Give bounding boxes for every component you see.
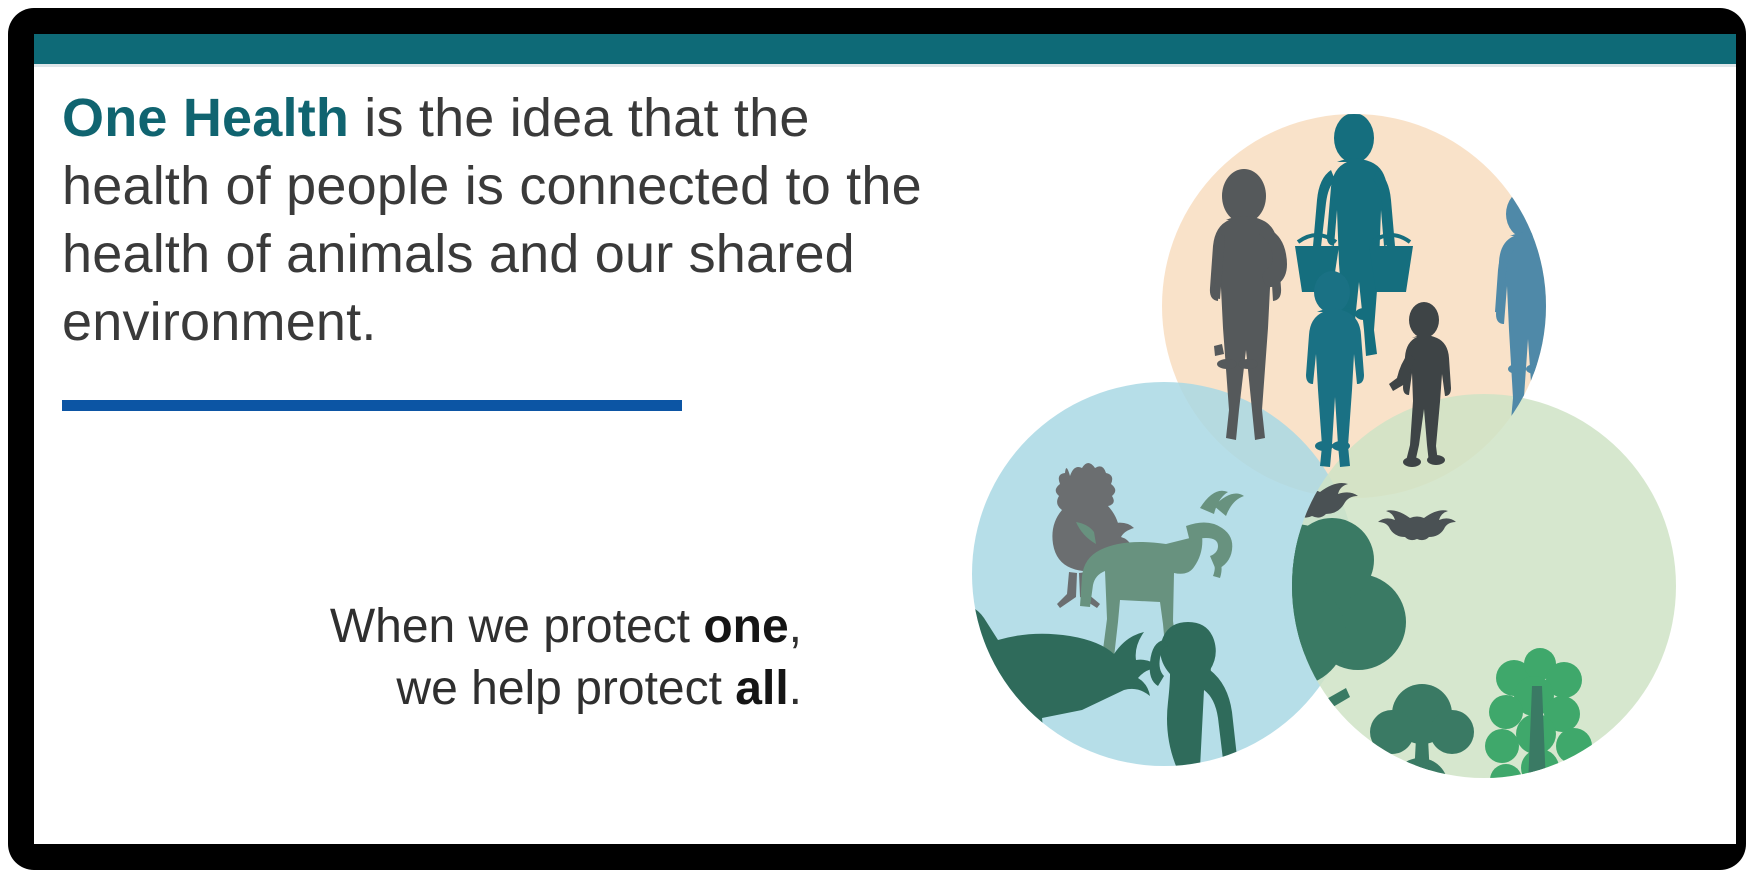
one-health-venn-diagram xyxy=(834,74,1714,814)
top-accent-rule xyxy=(34,64,1736,67)
tagline-line-2: we help protect all. xyxy=(62,658,802,720)
shrub-icon xyxy=(1434,798,1495,814)
tagline-line-1-emphasis: one xyxy=(703,600,788,653)
slide-canvas: One Health is the idea that the health o… xyxy=(34,34,1736,844)
tagline-line-1-pre: When we protect xyxy=(330,600,704,653)
shrub-icon xyxy=(1485,648,1593,814)
tagline-line-1-post: , xyxy=(789,600,802,653)
page-title: One Health is the idea that the health o… xyxy=(62,84,922,356)
divider-rule xyxy=(62,400,682,411)
tagline-line-2-emphasis: all xyxy=(735,662,788,715)
tagline-line-1: When we protect one, xyxy=(62,596,802,658)
tagline: When we protect one, we help protect all… xyxy=(62,596,802,720)
shrub-icon xyxy=(1161,778,1256,814)
slide-frame: One Health is the idea that the health o… xyxy=(8,8,1746,870)
top-accent-bar xyxy=(34,34,1736,64)
brand-name: One Health xyxy=(62,88,349,148)
tagline-line-2-pre: we help protect xyxy=(396,662,735,715)
tagline-line-2-post: . xyxy=(789,662,802,715)
